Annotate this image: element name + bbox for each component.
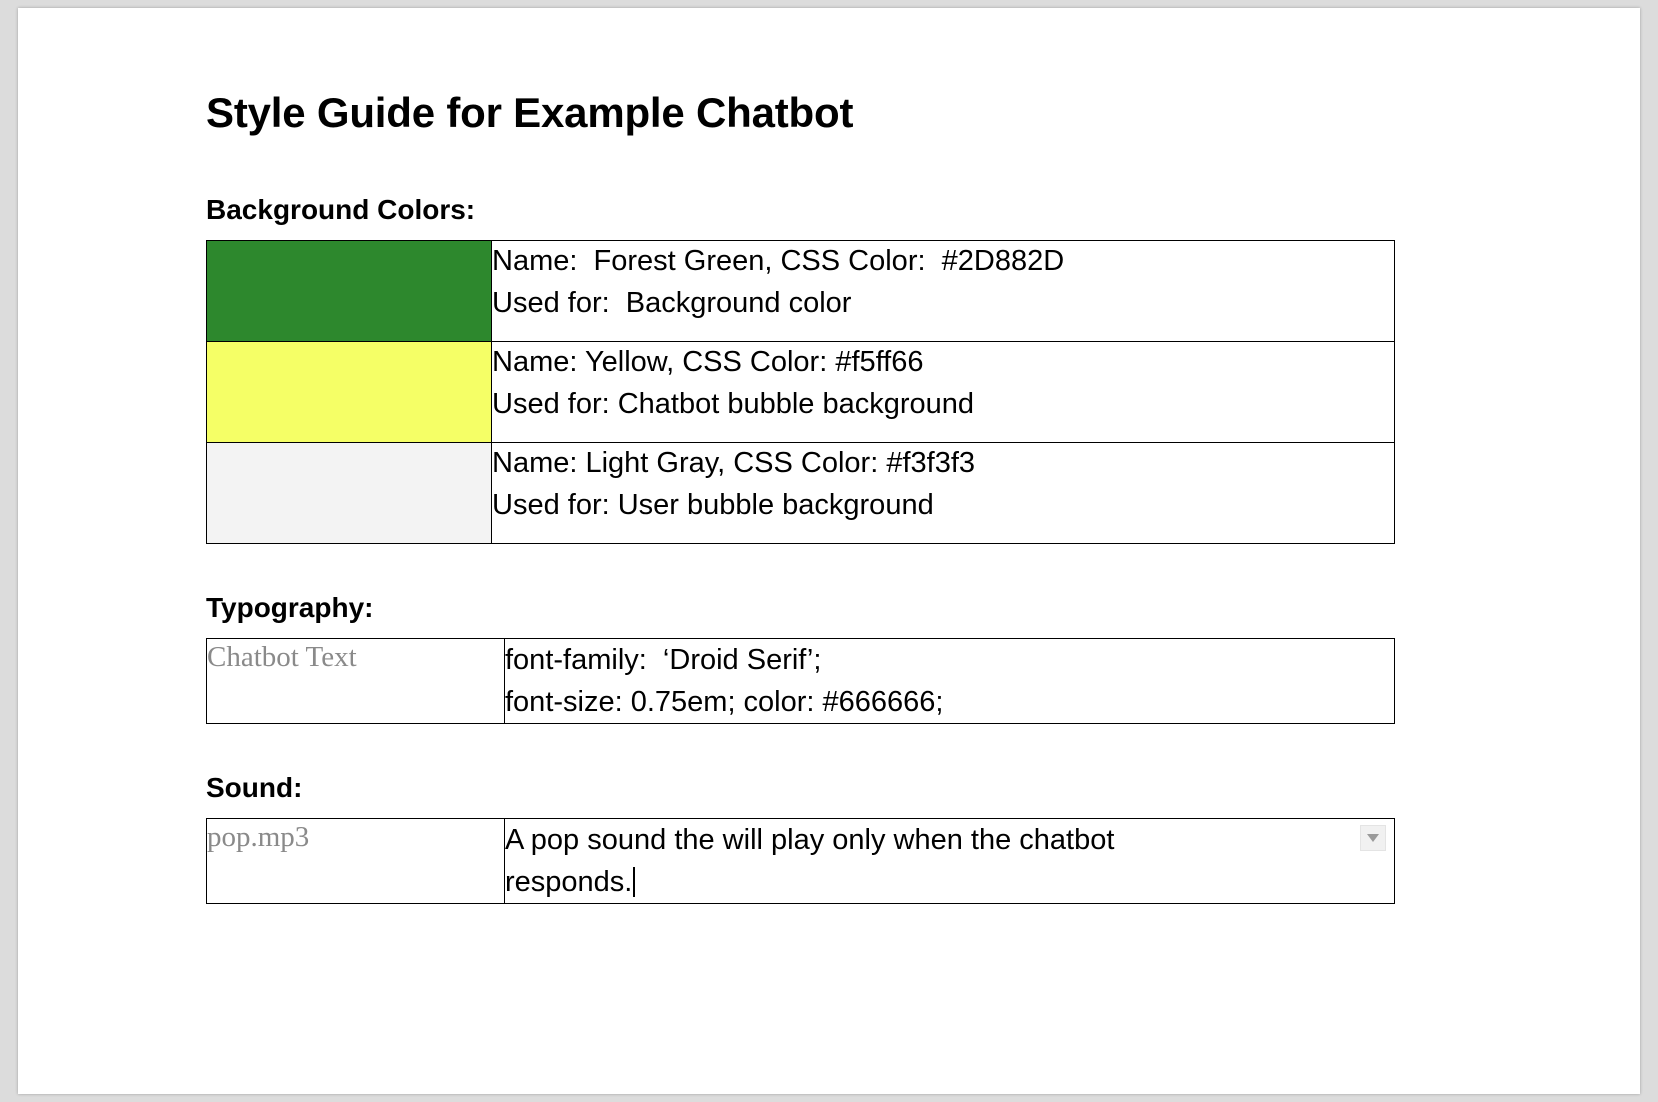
sound-description-line-2-wrapper: responds. (505, 861, 1394, 903)
sound-description-cell[interactable]: A pop sound the will play only when the … (505, 819, 1395, 904)
section-heading-typography: Typography: (206, 592, 1390, 624)
color-swatch-cell (207, 241, 492, 342)
typography-sample-label: Chatbot Text (207, 639, 504, 677)
table-row: pop.mp3 A pop sound the will play only w… (207, 819, 1395, 904)
color-name-line: Name: Light Gray, CSS Color: #f3f3f3 (492, 443, 1394, 485)
typography-css-cell: font-family: ‘Droid Serif’; font-size: 0… (505, 639, 1395, 724)
sound-file-cell: pop.mp3 (207, 819, 505, 904)
document-page: Style Guide for Example Chatbot Backgrou… (18, 8, 1640, 1094)
sound-description-line-1: A pop sound the will play only when the … (505, 819, 1394, 861)
page-title: Style Guide for Example Chatbot (206, 90, 1390, 136)
section-heading-background-colors: Background Colors: (206, 194, 1390, 226)
color-description-cell: Name: Forest Green, CSS Color: #2D882D U… (492, 241, 1395, 342)
table-row: Name: Yellow, CSS Color: #f5ff66 Used fo… (207, 342, 1395, 443)
spacer (190, 544, 1390, 592)
spacer (190, 624, 1390, 638)
color-swatch-cell (207, 443, 492, 544)
css-font-size-color-line: font-size: 0.75em; color: #666666; (505, 681, 1394, 723)
spacer (190, 804, 1390, 818)
sound-description-line-2: responds. (505, 866, 632, 898)
document-body: Style Guide for Example Chatbot Backgrou… (190, 90, 1390, 904)
typography-sample-cell: Chatbot Text (207, 639, 505, 724)
spacer (190, 226, 1390, 240)
chevron-down-icon[interactable] (1360, 825, 1386, 851)
sound-table: pop.mp3 A pop sound the will play only w… (206, 818, 1395, 904)
color-name-line: Name: Yellow, CSS Color: #f5ff66 (492, 342, 1394, 384)
color-usage-line: Used for: User bubble background (492, 485, 1394, 527)
css-font-family-line: font-family: ‘Droid Serif’; (505, 639, 1394, 681)
color-description-cell: Name: Light Gray, CSS Color: #f3f3f3 Use… (492, 443, 1395, 544)
window-backdrop: Style Guide for Example Chatbot Backgrou… (0, 0, 1658, 1102)
background-colors-table: Name: Forest Green, CSS Color: #2D882D U… (206, 240, 1395, 544)
section-heading-sound: Sound: (206, 772, 1390, 804)
color-description-cell: Name: Yellow, CSS Color: #f5ff66 Used fo… (492, 342, 1395, 443)
table-row: Chatbot Text font-family: ‘Droid Serif’;… (207, 639, 1395, 724)
typography-table: Chatbot Text font-family: ‘Droid Serif’;… (206, 638, 1395, 724)
table-row: Name: Light Gray, CSS Color: #f3f3f3 Use… (207, 443, 1395, 544)
color-swatch-forest-green (207, 241, 491, 341)
spacer (190, 136, 1390, 194)
sound-file-label: pop.mp3 (207, 819, 504, 857)
color-name-line: Name: Forest Green, CSS Color: #2D882D (492, 241, 1394, 283)
table-row: Name: Forest Green, CSS Color: #2D882D U… (207, 241, 1395, 342)
color-swatch-light-gray (207, 443, 491, 543)
color-usage-line: Used for: Background color (492, 283, 1394, 325)
spacer (190, 724, 1390, 772)
color-usage-line: Used for: Chatbot bubble background (492, 384, 1394, 426)
color-swatch-cell (207, 342, 492, 443)
text-cursor (633, 867, 635, 897)
color-swatch-yellow (207, 342, 491, 442)
